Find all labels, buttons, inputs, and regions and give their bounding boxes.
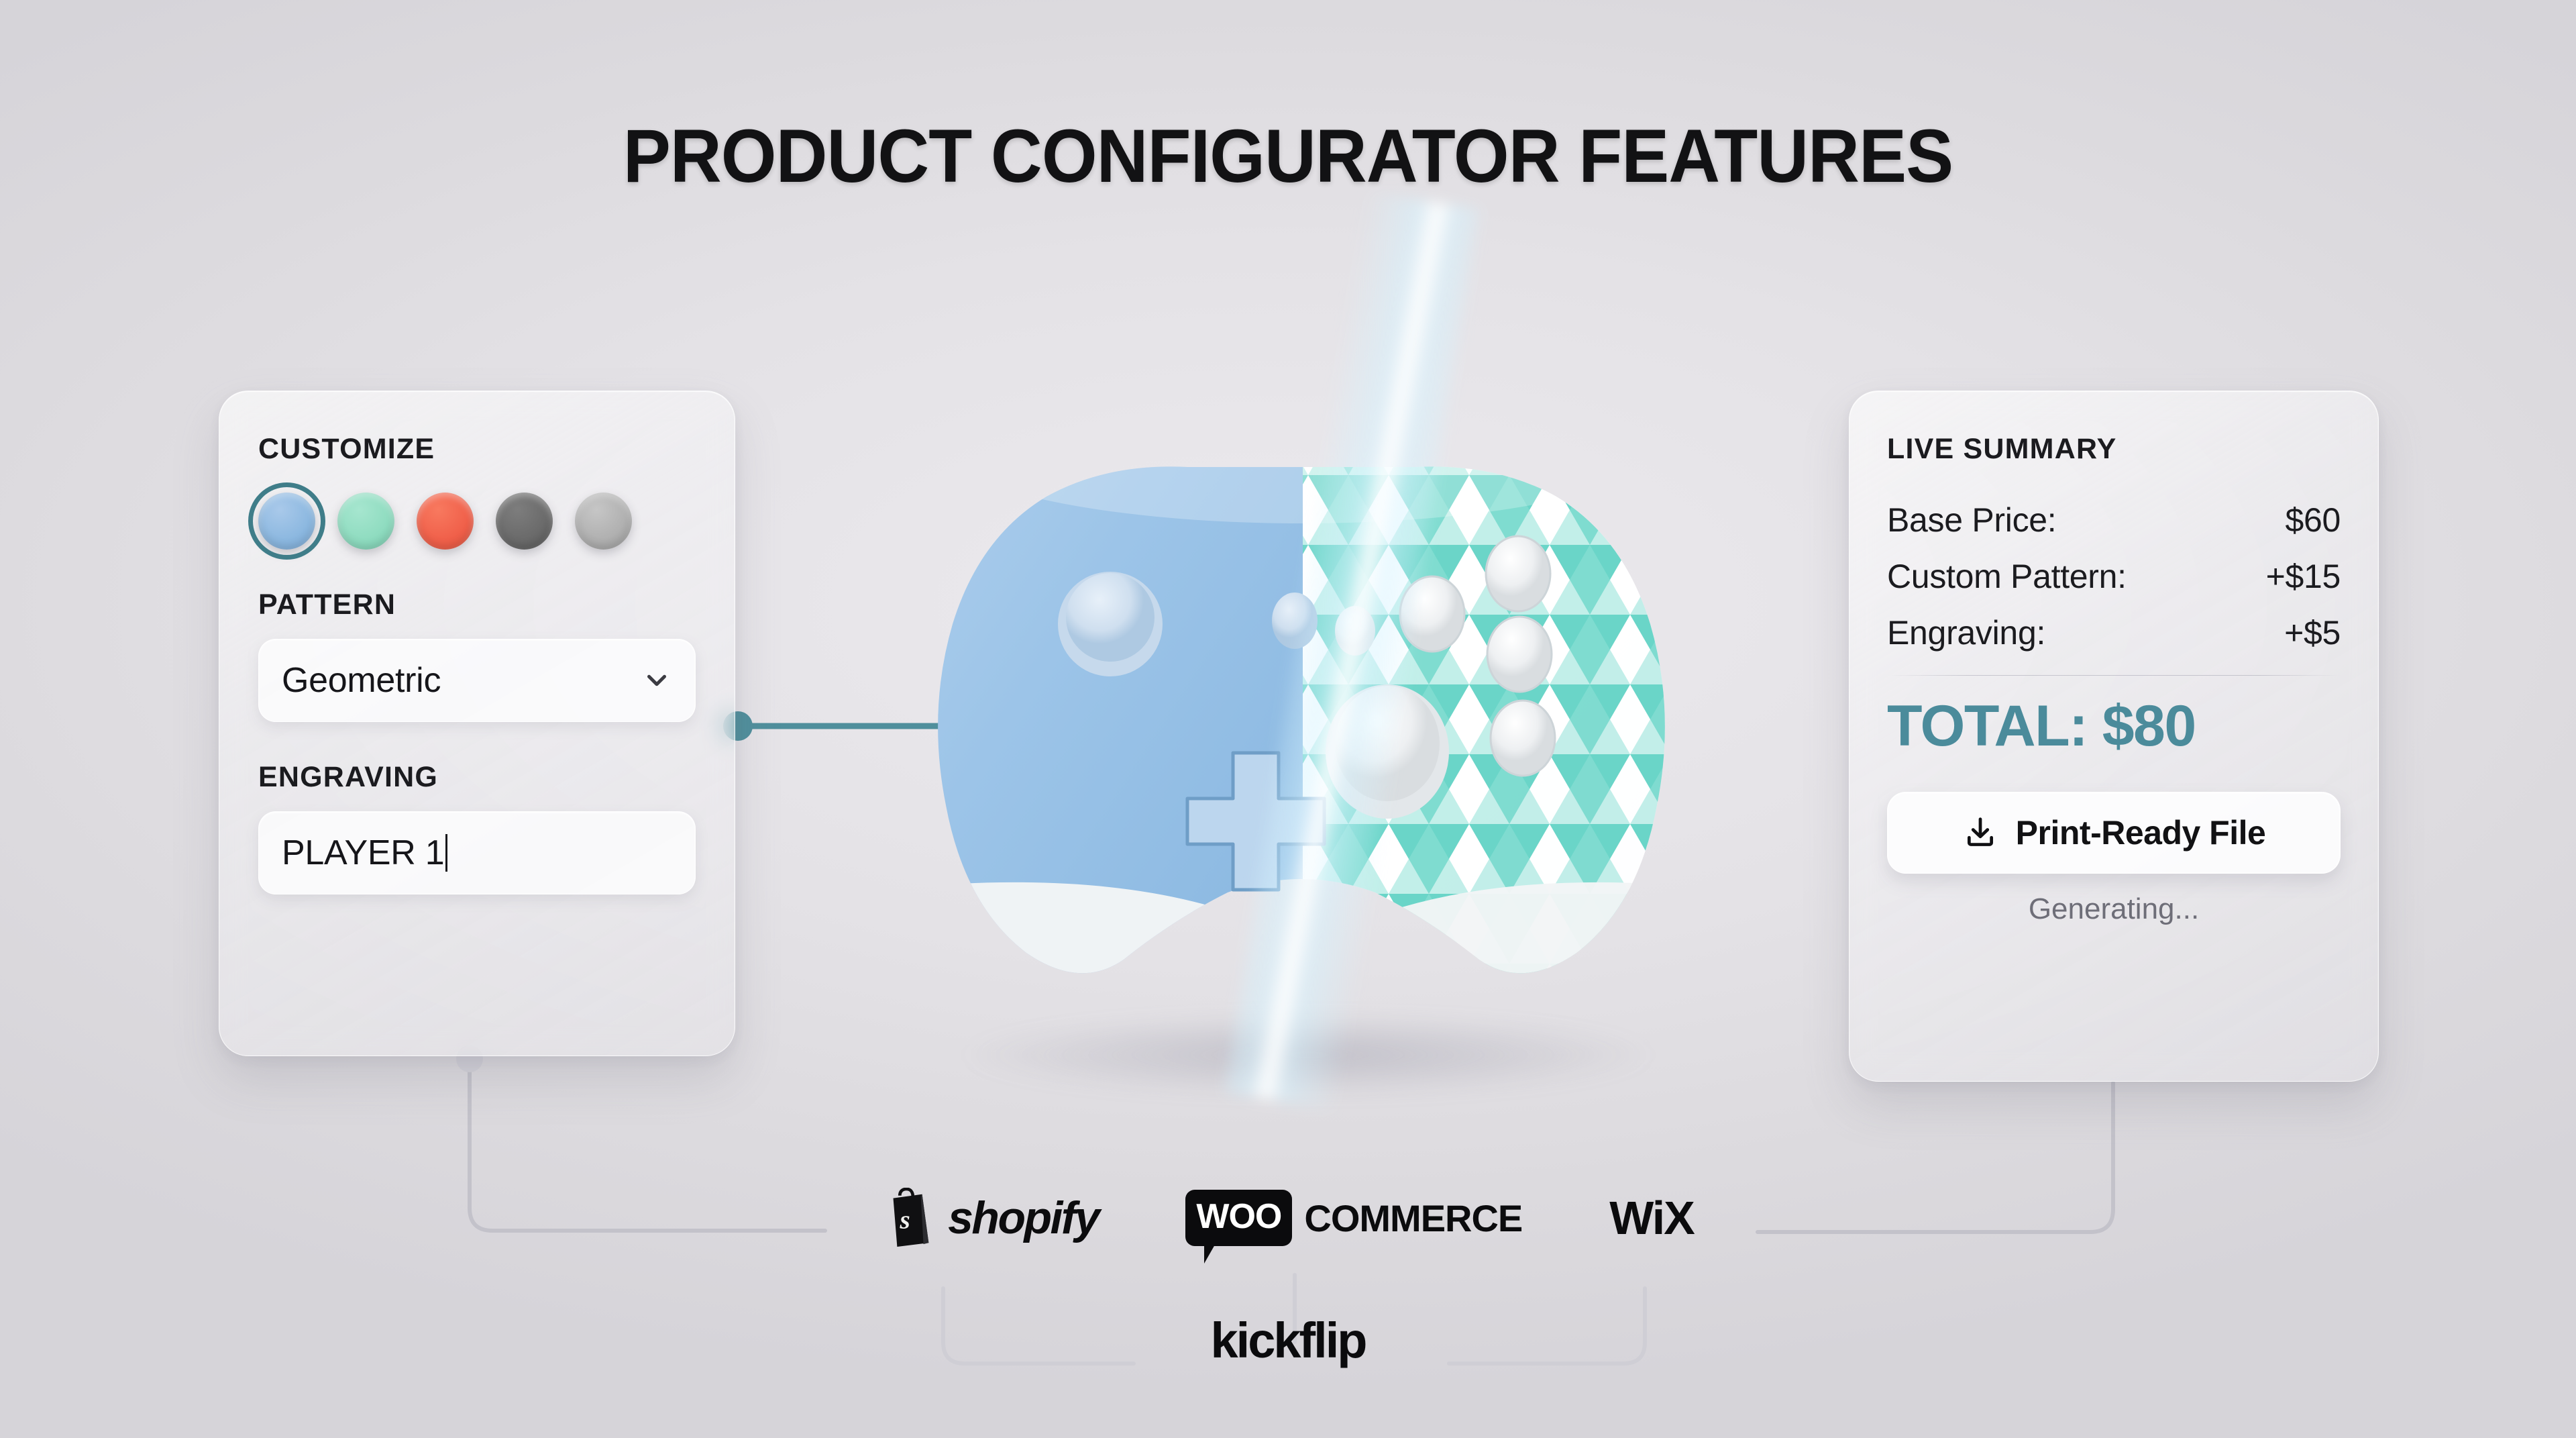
- engraving-value: PLAYER 1: [282, 833, 444, 873]
- text-cursor: [445, 834, 447, 872]
- download-icon: [1962, 815, 1998, 851]
- shopping-bag-icon: s: [882, 1188, 936, 1248]
- page-title: PRODUCT CONFIGURATOR FEATURES: [64, 113, 2512, 199]
- wix-label: WiX: [1609, 1191, 1694, 1245]
- pattern-field-group: PATTERN Geometric: [258, 588, 696, 722]
- color-swatch-row: [258, 493, 696, 550]
- summary-row: Base Price: $60: [1887, 501, 2341, 540]
- summary-panel: LIVE SUMMARY Base Price: $60 Custom Patt…: [1849, 391, 2379, 1082]
- commerce-label: COMMERCE: [1304, 1196, 1522, 1240]
- customize-heading: CUSTOMIZE: [258, 433, 696, 466]
- summary-row-label: Engraving:: [1887, 613, 2045, 652]
- summary-row: Custom Pattern: +$15: [1887, 557, 2341, 596]
- summary-row-value: $60: [2285, 501, 2341, 540]
- color-swatch-dark-gray[interactable]: [496, 493, 553, 550]
- print-ready-file-button[interactable]: Print-Ready File: [1887, 792, 2341, 874]
- summary-row-value: +$5: [2284, 613, 2341, 652]
- kickflip-brand-logo: kickflip: [0, 1312, 2576, 1369]
- chevron-down-icon: [641, 665, 672, 696]
- shopify-logo[interactable]: s shopify: [882, 1188, 1098, 1248]
- summary-divider: [1887, 675, 2341, 676]
- summary-row-label: Base Price:: [1887, 501, 2056, 540]
- summary-row: Engraving: +$5: [1887, 613, 2341, 652]
- wix-logo[interactable]: WiX: [1609, 1191, 1694, 1245]
- generating-status: Generating...: [1887, 892, 2341, 926]
- pattern-select[interactable]: Geometric: [258, 639, 696, 722]
- color-swatch-blue[interactable]: [258, 493, 315, 550]
- woo-badge-label: WOO: [1185, 1190, 1292, 1246]
- summary-row-value: +$15: [2266, 557, 2341, 596]
- woocommerce-logo[interactable]: WOO COMMERCE: [1185, 1190, 1522, 1246]
- summary-row-label: Custom Pattern:: [1887, 557, 2127, 596]
- engraving-input[interactable]: PLAYER 1: [258, 811, 696, 894]
- summary-rows: Base Price: $60 Custom Pattern: +$15 Eng…: [1887, 501, 2341, 652]
- game-controller-image: [825, 336, 1778, 1074]
- color-swatch-light-gray[interactable]: [575, 493, 632, 550]
- pattern-label: PATTERN: [258, 588, 696, 621]
- customize-panel: CUSTOMIZE PATTERN Geometric ENGRAVING PL…: [219, 391, 735, 1056]
- shopify-label: shopify: [948, 1192, 1098, 1244]
- pattern-value: Geometric: [282, 660, 441, 701]
- color-swatch-mint[interactable]: [337, 493, 394, 550]
- total-price: TOTAL: $80: [1887, 693, 2341, 760]
- engraving-label: ENGRAVING: [258, 761, 696, 794]
- summary-heading: LIVE SUMMARY: [1887, 433, 2341, 466]
- engraving-field-group: ENGRAVING PLAYER 1: [258, 761, 696, 894]
- platform-logo-row: s shopify WOO COMMERCE WiX: [0, 1188, 2576, 1248]
- print-ready-file-label: Print-Ready File: [2016, 813, 2266, 852]
- color-swatch-coral[interactable]: [417, 493, 474, 550]
- product-preview-stage: [825, 336, 1778, 1127]
- svg-text:s: s: [900, 1206, 910, 1235]
